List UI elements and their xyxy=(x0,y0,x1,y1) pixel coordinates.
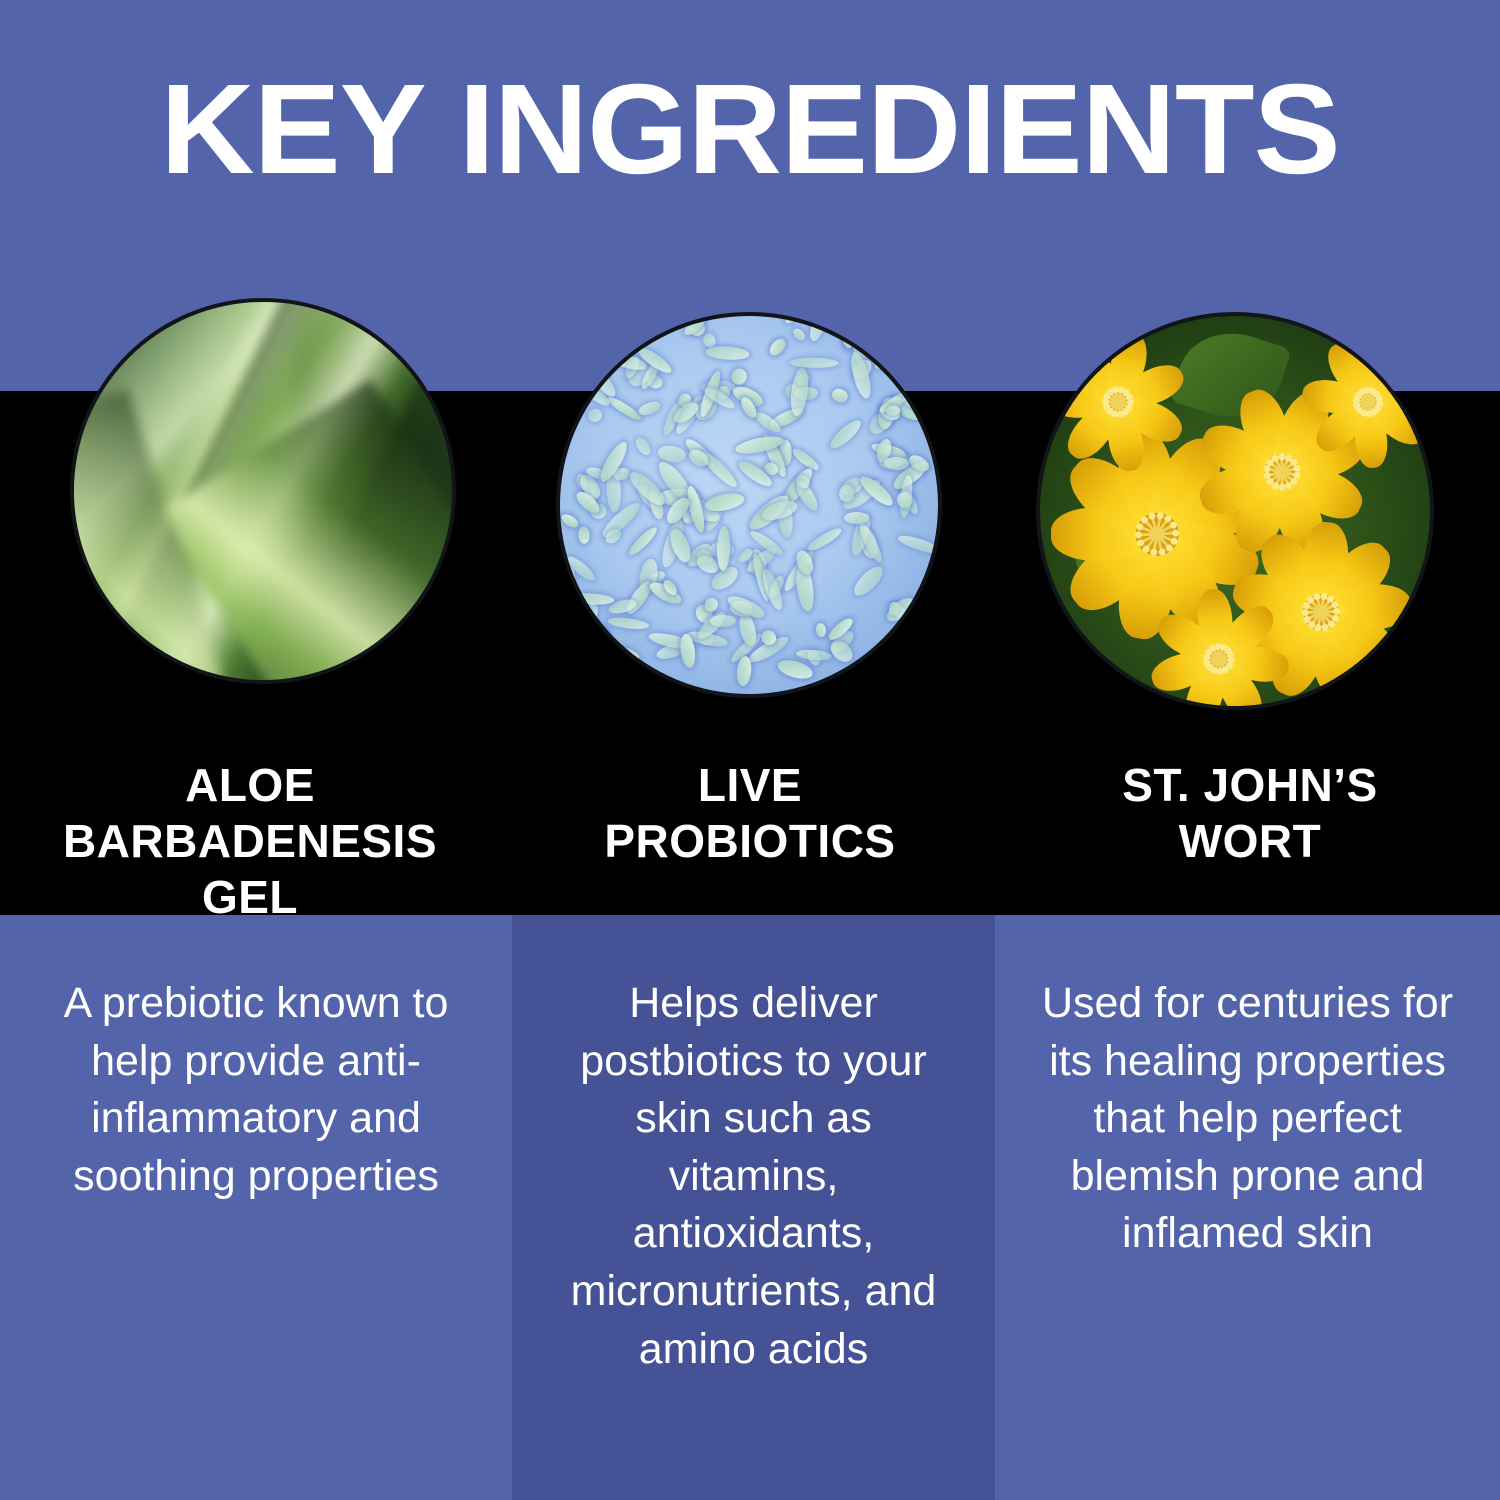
ingredient-name-probiotics: LIVE PROBIOTICS xyxy=(500,757,1000,925)
ingredient-name-aloe-line2: BARBADENESIS GEL xyxy=(10,813,490,925)
ingredient-image-probiotics xyxy=(556,312,942,698)
description-aloe: A prebiotic known to help provide anti-i… xyxy=(0,915,512,1500)
page-title: KEY INGREDIENTS xyxy=(0,66,1500,194)
ingredient-name-st-johns-wort-line1: ST. JOHN’S xyxy=(1010,757,1490,813)
key-ingredients-infographic: KEY INGREDIENTS ALOE BARBADENESIS GEL xyxy=(0,0,1500,1500)
ingredient-name-st-johns-wort: ST. JOHN’S WORT xyxy=(1000,757,1500,925)
ingredient-name-aloe-line1: ALOE xyxy=(10,757,490,813)
probiotic-bacteria-icon xyxy=(560,316,938,694)
aloe-leaf-icon xyxy=(74,302,452,680)
ingredient-image-aloe xyxy=(70,298,456,684)
ingredient-name-probiotics-line1: LIVE xyxy=(510,757,990,813)
ingredient-image-st-johns-wort xyxy=(1036,312,1434,710)
ingredient-name-probiotics-line2: PROBIOTICS xyxy=(510,813,990,869)
ingredient-names-row: ALOE BARBADENESIS GEL LIVE PROBIOTICS ST… xyxy=(0,757,1500,925)
description-st-johns-wort: Used for centuries for its healing prope… xyxy=(995,915,1500,1500)
description-probiotics: Helps deliver postbiotics to your skin s… xyxy=(512,915,995,1500)
ingredient-name-st-johns-wort-line2: WORT xyxy=(1010,813,1490,869)
yellow-flower-icon xyxy=(1040,316,1430,706)
description-columns: A prebiotic known to help provide anti-i… xyxy=(0,915,1500,1500)
ingredient-name-aloe: ALOE BARBADENESIS GEL xyxy=(0,757,500,925)
